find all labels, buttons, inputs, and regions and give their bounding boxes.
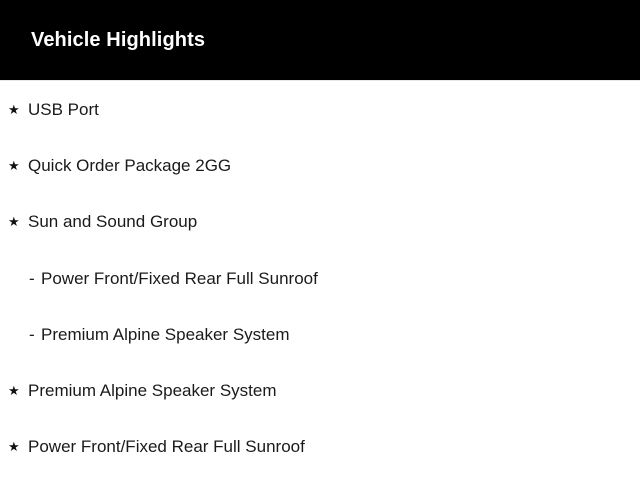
list-item-label: Quick Order Package 2GG [28, 157, 231, 174]
list-item: ★ Quick Order Package 2GG [0, 137, 640, 193]
list-item-label: Power Front/Fixed Rear Full Sunroof [41, 270, 318, 287]
list-item-label: Power Front/Fixed Rear Full Sunroof [28, 438, 305, 455]
list-item-label: Sun and Sound Group [28, 213, 197, 230]
vehicle-highlights-panel: Vehicle Highlights ★ USB Port ★ Quick Or… [0, 0, 640, 480]
list-item-sub: - Premium Alpine Speaker System [0, 306, 640, 362]
list-item: ★ Power Front/Fixed Rear Full Sunroof [0, 419, 640, 475]
list-item-label: USB Port [28, 101, 99, 118]
list-item-sub: - Power Front/Fixed Rear Full Sunroof [0, 250, 640, 306]
list-item-label: Premium Alpine Speaker System [28, 382, 277, 399]
page-title: Vehicle Highlights [31, 0, 205, 81]
star-icon: ★ [8, 215, 28, 228]
star-icon: ★ [8, 159, 28, 172]
list-item: ★ USB Port [0, 81, 640, 137]
vehicle-highlights-list: ★ USB Port ★ Quick Order Package 2GG ★ S… [0, 81, 640, 475]
star-icon: ★ [8, 440, 28, 453]
dash-icon: - [29, 270, 41, 287]
list-item-label: Premium Alpine Speaker System [41, 326, 290, 343]
star-icon: ★ [8, 384, 28, 397]
header-bar: Vehicle Highlights [0, 0, 640, 81]
star-icon: ★ [8, 103, 28, 116]
list-item: ★ Premium Alpine Speaker System [0, 362, 640, 418]
list-item: ★ Sun and Sound Group [0, 194, 640, 250]
dash-icon: - [29, 326, 41, 343]
